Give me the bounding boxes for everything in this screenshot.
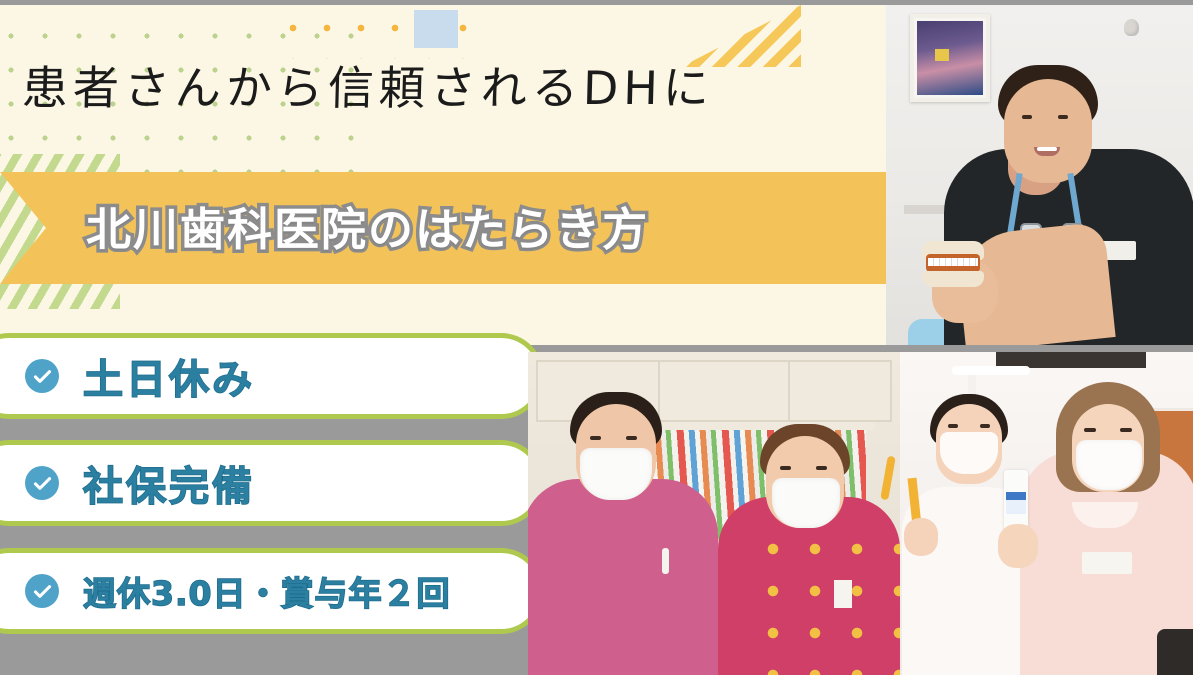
yellow-dot-overlay: [752, 528, 900, 675]
staff-a-pocket-pen: [662, 548, 669, 574]
dentist-face: [1004, 79, 1092, 183]
staff-d-hand: [998, 524, 1038, 568]
banner-canvas: 患者さんから信頼されるDHに 北川歯科医院のはたらき方 土日休み 社保完備 週休…: [0, 0, 1193, 675]
staff-d-face-mask: [1076, 440, 1142, 490]
page-title: 患者さんから信頼されるDHに: [21, 52, 823, 118]
staff-d-name-badge: [1082, 552, 1132, 574]
blue-square-decoration: [414, 10, 458, 48]
benefit-item-weekend-off[interactable]: 土日休み: [0, 333, 544, 419]
staff-c-face-mask: [940, 432, 998, 474]
photo-staff-white: [900, 352, 1193, 675]
staff-b-eye-left: [780, 466, 791, 470]
chair: [1157, 629, 1193, 675]
toothpaste-tube-icon: [1004, 470, 1028, 532]
benefit-label: 週休3.0日・賞与年２回: [83, 567, 450, 615]
staff-a-eye-right: [626, 436, 637, 440]
wall-picture-frame: [910, 14, 990, 102]
benefit-item-holidays-bonus[interactable]: 週休3.0日・賞与年２回: [0, 548, 544, 634]
photo-dentist: [886, 5, 1193, 345]
benefit-item-social-insurance[interactable]: 社保完備: [0, 440, 544, 526]
check-circle-icon: [25, 574, 59, 608]
staff-a-face-mask: [580, 448, 652, 500]
staff-a-torso: [528, 479, 718, 675]
staff-c-eye-left: [948, 424, 958, 428]
wall-sensor-icon: [1124, 19, 1139, 36]
staff-b-face-mask: [772, 478, 840, 528]
window-top-edge: [0, 0, 1193, 5]
check-circle-icon: [25, 466, 59, 500]
staff-d-eye-left: [1084, 428, 1096, 432]
staff-b-eye-right: [816, 466, 827, 470]
clinic-lamp: [952, 366, 1030, 375]
shelf-edge: [640, 422, 874, 430]
dentist-eye-left: [1022, 115, 1032, 119]
staff-c-hand: [904, 518, 938, 556]
staff-a-eye-left: [590, 436, 601, 440]
dentist-eye-right: [1058, 115, 1068, 119]
staff-c-eye-right: [980, 424, 990, 428]
check-circle-icon: [25, 359, 59, 393]
ribbon-title: 北川歯科医院のはたらき方: [86, 193, 876, 255]
staff-d-eye-right: [1120, 428, 1132, 432]
photo-staff-pink: [528, 352, 900, 675]
benefit-label: 土日休み: [83, 347, 255, 405]
benefit-label: 社保完備: [83, 454, 255, 512]
dental-jaw-model-icon: [922, 241, 984, 287]
